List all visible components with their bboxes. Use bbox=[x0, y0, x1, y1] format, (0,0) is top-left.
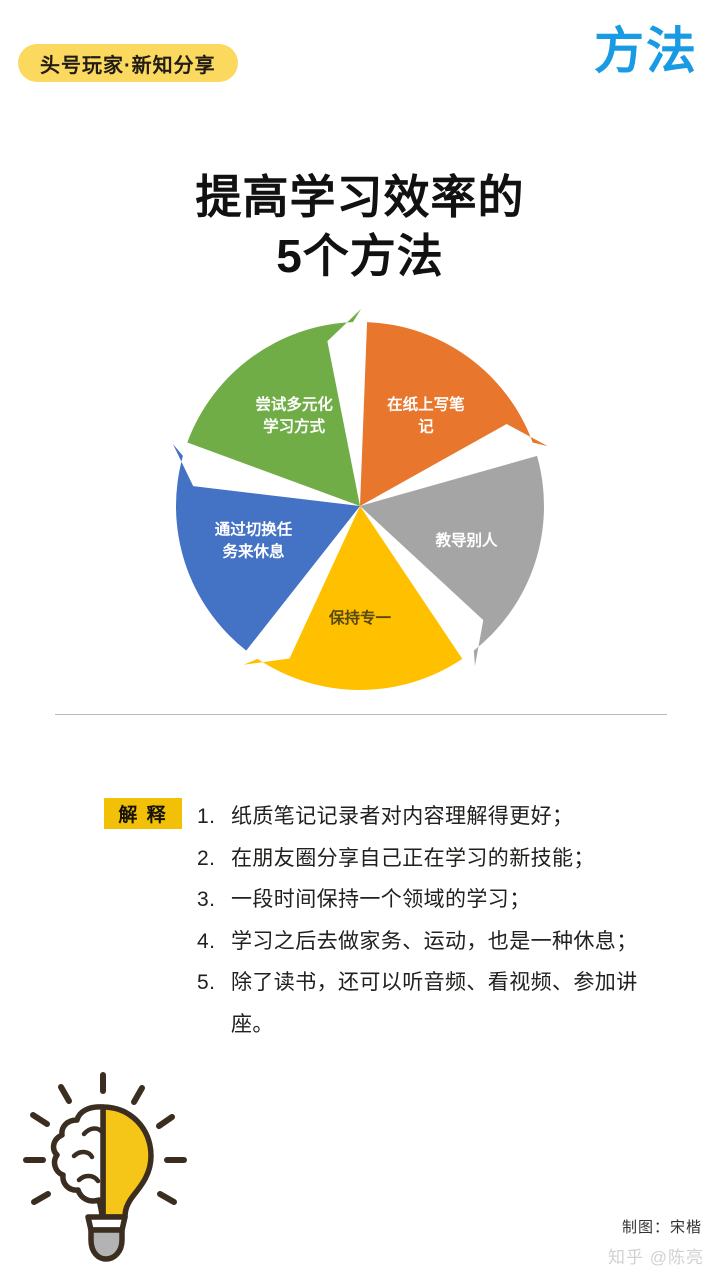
explanation-list: 1.纸质笔记记录者对内容理解得更好；2.在朋友圈分享自己正在学习的新技能；3.一… bbox=[197, 796, 667, 1045]
page-title: 提高学习效率的 5个方法 bbox=[0, 168, 720, 286]
brain-lightbulb-illustration bbox=[22, 1062, 218, 1262]
header: 头号玩家·新知分享 方法 bbox=[0, 0, 720, 120]
bulb-base bbox=[91, 1230, 122, 1259]
explanation-item-text: 学习之后去做家务、运动，也是一种休息； bbox=[231, 921, 667, 963]
pie-chart: 在纸上写笔记教导别人保持专一通过切换任务来休息尝试多元化学习方式 bbox=[168, 298, 552, 702]
explanation-item-text: 一段时间保持一个领域的学习； bbox=[231, 879, 667, 921]
pie-slice-label: 保持专一 bbox=[328, 608, 392, 627]
channel-badge: 头号玩家·新知分享 bbox=[18, 44, 238, 82]
explanation-item: 5.除了读书，还可以听音频、看视频、参加讲座。 bbox=[197, 962, 667, 1045]
page-title-line-1: 提高学习效率的 bbox=[196, 171, 525, 223]
brain-half bbox=[54, 1107, 103, 1217]
explanation-item-number: 3. bbox=[197, 879, 231, 921]
explanation-item-number: 2. bbox=[197, 838, 231, 880]
bulb-glass-right bbox=[103, 1107, 151, 1217]
pie-chart-svg: 在纸上写笔记教导别人保持专一通过切换任务来休息尝试多元化学习方式 bbox=[168, 298, 552, 702]
explanation-item-number: 1. bbox=[197, 796, 231, 838]
explanation-item-number: 5. bbox=[197, 962, 231, 1004]
explanation-item-text: 在朋友圈分享自己正在学习的新技能； bbox=[231, 838, 667, 880]
explanation-item-number: 4. bbox=[197, 921, 231, 963]
pie-slice-label: 教导别人 bbox=[436, 531, 499, 550]
explanation-item: 4.学习之后去做家务、运动，也是一种休息； bbox=[197, 921, 667, 963]
credit-text: 制图：宋楷 bbox=[622, 1216, 702, 1237]
explanation-item: 1.纸质笔记记录者对内容理解得更好； bbox=[197, 796, 667, 838]
watermark-text: 知乎 @陈亮 bbox=[608, 1243, 704, 1268]
explanation-item: 2.在朋友圈分享自己正在学习的新技能； bbox=[197, 838, 667, 880]
page-title-line-2: 5个方法 bbox=[0, 227, 720, 286]
explanation-item-text: 除了读书，还可以听音频、看视频、参加讲座。 bbox=[231, 962, 667, 1045]
explanation-badge: 解 释 bbox=[104, 798, 182, 829]
header-category-title: 方法 bbox=[594, 26, 698, 76]
section-divider bbox=[55, 714, 667, 715]
explanation-item-text: 纸质笔记记录者对内容理解得更好； bbox=[231, 796, 667, 838]
brain-lightbulb-icon bbox=[22, 1062, 218, 1262]
explanation-item: 3.一段时间保持一个领域的学习； bbox=[197, 879, 667, 921]
